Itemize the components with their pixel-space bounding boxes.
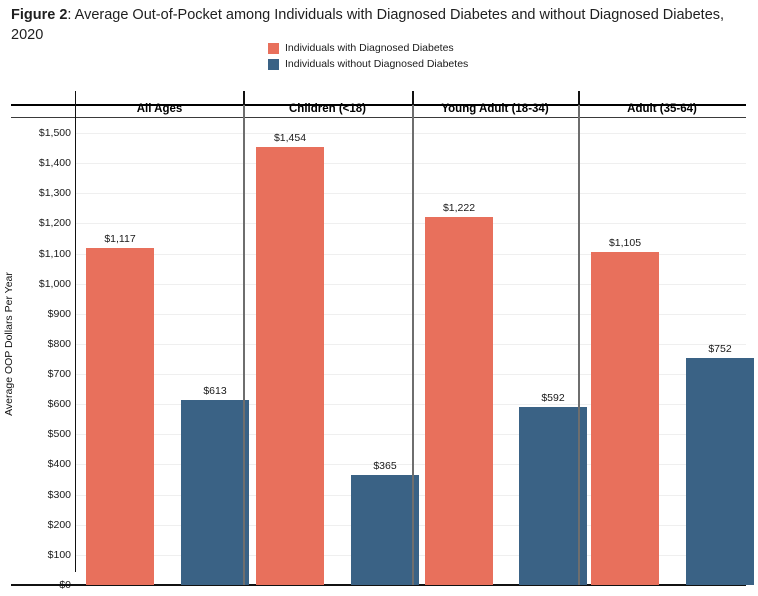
y-tick-label: $500: [48, 428, 71, 440]
bar-value-label: $1,117: [104, 233, 135, 245]
y-tick-label: $1,000: [39, 278, 71, 290]
bar-chart: Average OOP Dollars Per Year $0$100$200$…: [11, 104, 746, 585]
y-tick-label: $100: [48, 549, 71, 561]
gridline: [76, 163, 746, 164]
y-tick-label: $1,500: [39, 127, 71, 139]
bar-without-diabetes-1[interactable]: [181, 400, 249, 585]
legend-swatch-without-diabetes: [268, 59, 279, 70]
bar-with-diabetes-1[interactable]: [86, 248, 154, 585]
gridline: [76, 133, 746, 134]
y-tick-label: $300: [48, 489, 71, 501]
bar-value-label: $1,454: [274, 132, 306, 144]
facet-header-2: Children (<18): [243, 103, 412, 117]
bar-without-diabetes-4[interactable]: [686, 358, 754, 585]
bar-value-label: $1,105: [609, 237, 641, 249]
y-tick-label: $1,100: [39, 248, 71, 260]
bar-value-label: $592: [541, 392, 564, 404]
y-axis-tick-labels: $0$100$200$300$400$500$600$700$800$900$1…: [11, 117, 71, 585]
facet-separator: [243, 91, 245, 585]
facet-separator: [578, 91, 580, 585]
figure-number: Figure 2: [11, 7, 67, 23]
legend-swatch-with-diabetes: [268, 43, 279, 54]
y-tick-label: $1,400: [39, 157, 71, 169]
bar-value-label: $752: [708, 343, 731, 355]
bar-with-diabetes-2[interactable]: [256, 147, 324, 585]
y-tick-label: $600: [48, 398, 71, 410]
y-tick-label: $700: [48, 368, 71, 380]
facet-header-3: Young Adult (18-34): [412, 103, 578, 117]
facet-separator: [412, 91, 414, 585]
bar-value-label: $613: [203, 385, 226, 397]
figure-title: Figure 2: Average Out-of-Pocket among In…: [11, 5, 735, 45]
legend-item-without-diabetes: Individuals without Diagnosed Diabetes: [268, 57, 468, 71]
legend-label-without-diabetes: Individuals without Diagnosed Diabetes: [285, 59, 468, 70]
legend: Individuals with Diagnosed Diabetes Indi…: [268, 41, 468, 73]
bar-with-diabetes-4[interactable]: [591, 252, 659, 585]
y-tick-label: $800: [48, 338, 71, 350]
plot-area: $1,117$613$1,454$365$1,222$592$1,105$752: [76, 117, 746, 585]
y-tick-label: $1,200: [39, 217, 71, 229]
legend-item-with-diabetes: Individuals with Diagnosed Diabetes: [268, 41, 468, 55]
gridline: [76, 193, 746, 194]
bar-without-diabetes-3[interactable]: [519, 407, 587, 585]
bar-value-label: $1,222: [443, 202, 475, 214]
facet-header-1: All Ages: [76, 103, 243, 117]
legend-label-with-diabetes: Individuals with Diagnosed Diabetes: [285, 43, 454, 54]
y-tick-label: $1,300: [39, 187, 71, 199]
bar-with-diabetes-3[interactable]: [425, 217, 493, 585]
gridline: [76, 223, 746, 224]
facet-header-4: Adult (35-64): [578, 103, 746, 117]
bar-value-label: $365: [373, 460, 396, 472]
y-tick-label: $400: [48, 458, 71, 470]
y-tick-label: $900: [48, 308, 71, 320]
y-tick-label: $200: [48, 519, 71, 531]
bar-without-diabetes-2[interactable]: [351, 475, 419, 585]
figure-title-text: : Average Out-of-Pocket among Individual…: [11, 7, 724, 43]
